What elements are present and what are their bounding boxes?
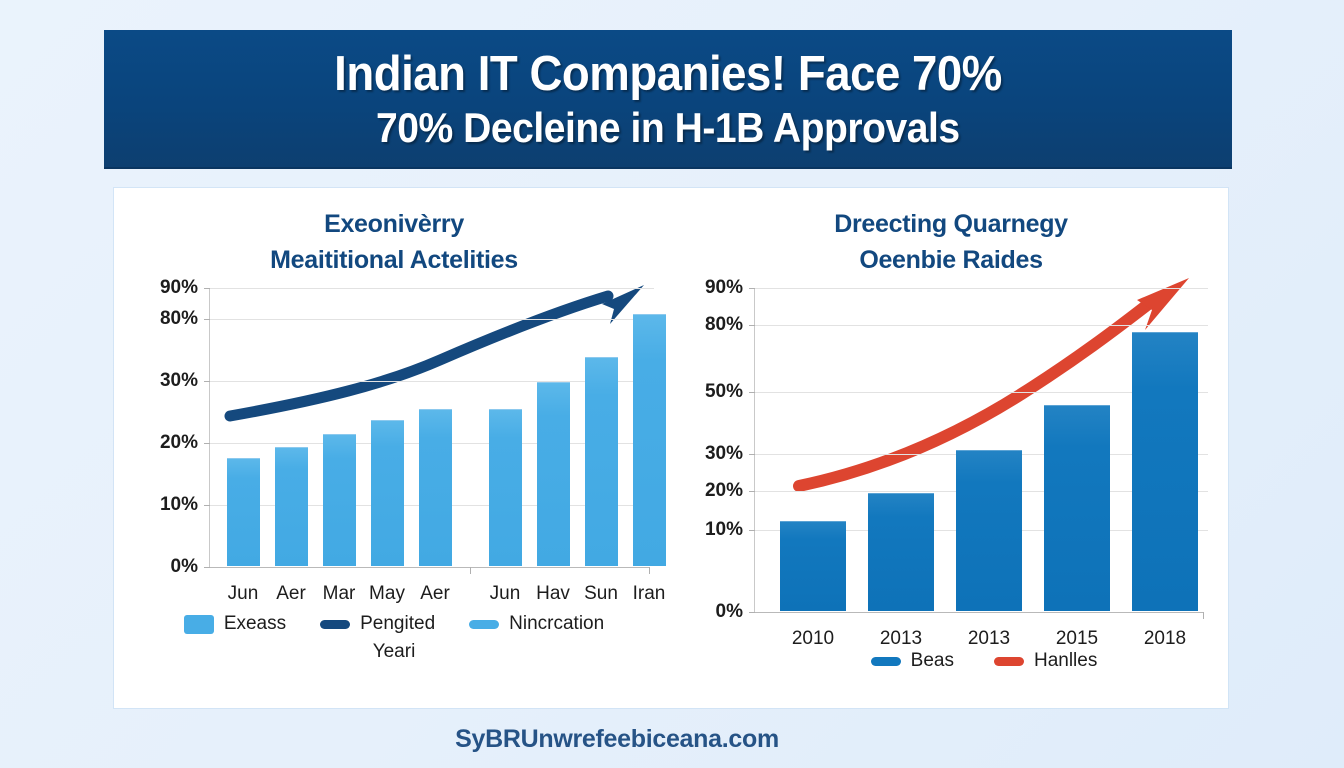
- legend-swatch-line-icon: [320, 620, 350, 629]
- x-axis-label: Iran: [633, 583, 666, 605]
- x-axis-label: 2013: [968, 628, 1010, 650]
- y-tick-mark: [749, 454, 755, 455]
- legend-swatch-line-icon: [469, 620, 499, 629]
- legend-item[interactable]: Beas: [871, 650, 954, 672]
- y-axis-label: 20%: [705, 480, 743, 502]
- bar: [956, 450, 1022, 611]
- x-axis-end-tick: [1203, 612, 1204, 619]
- chart-title-left: Exeonivèrry Meaititional Actelities: [114, 206, 674, 278]
- x-axis-label: Aer: [420, 583, 450, 605]
- gridline: [210, 288, 654, 289]
- gridline: [755, 325, 1208, 326]
- x-axis-label: Jun: [228, 583, 259, 605]
- bar: [227, 458, 260, 567]
- x-axis-label: Jun: [490, 583, 521, 605]
- y-axis-label: 90%: [705, 277, 743, 299]
- x-axis-label: 2018: [1144, 628, 1186, 650]
- y-axis-label: 10%: [705, 519, 743, 541]
- legend-swatch-square-icon: [184, 615, 214, 634]
- bar: [419, 409, 452, 566]
- gridline: [755, 288, 1208, 289]
- bar: [537, 382, 570, 566]
- banner-title-line-2: 70% Decleine in H-1B Approvals: [376, 103, 960, 153]
- x-axis-label: 2013: [880, 628, 922, 650]
- plot-area-left: 90%80%30%20%10%0%JunAerMarMayAerJunHavSu…: [209, 288, 650, 568]
- y-tick-mark: [204, 505, 210, 506]
- x-axis-label: Mar: [323, 583, 356, 605]
- header-banner: Indian IT Companies! Face 70% 70% Declei…: [104, 30, 1232, 169]
- bar: [780, 521, 846, 611]
- legend-label: Pengited: [360, 613, 435, 635]
- charts-card: Exeonivèrry Meaititional Actelities 90%8…: [114, 188, 1228, 708]
- bar: [868, 493, 934, 611]
- legend-item[interactable]: Hanlles: [994, 650, 1097, 672]
- chart-title-right: Dreecting Quarnegy Oeenbie Raides: [674, 206, 1228, 278]
- y-axis-label: 30%: [705, 443, 743, 465]
- y-tick-mark: [749, 288, 755, 289]
- legend-swatch-line-icon: [994, 657, 1024, 666]
- chart-title-left-line-2: Meaititional Actelities: [114, 242, 674, 278]
- legend-left: ExeassPengitedNincrcationYeari: [174, 613, 614, 663]
- x-axis-label: Sun: [584, 583, 618, 605]
- y-tick-mark: [204, 288, 210, 289]
- y-axis-label: 90%: [160, 277, 198, 299]
- bar: [371, 420, 404, 566]
- bar: [275, 447, 308, 566]
- y-tick-mark: [749, 392, 755, 393]
- y-axis-label: 10%: [160, 494, 198, 516]
- legend-item[interactable]: Yeari: [373, 641, 416, 663]
- gridline: [210, 319, 654, 320]
- chart-panel-right: Dreecting Quarnegy Oeenbie Raides 90%80%…: [674, 188, 1228, 708]
- y-tick-mark: [204, 567, 210, 568]
- plot-area-right: 90%80%50%30%20%10%0%20102013201320152018: [754, 288, 1204, 613]
- legend-label: Hanlles: [1034, 650, 1097, 672]
- bar: [585, 357, 618, 566]
- y-tick-mark: [749, 530, 755, 531]
- y-tick-mark: [204, 381, 210, 382]
- legend-swatch-line-icon: [871, 657, 901, 666]
- x-axis-end-tick: [649, 567, 650, 574]
- footer-watermark: SyBRUnwrefeebiceana.com: [0, 725, 1344, 754]
- y-axis-label: 0%: [716, 601, 743, 623]
- x-axis-label: Hav: [536, 583, 570, 605]
- chart-title-right-line-1: Dreecting Quarnegy: [674, 206, 1228, 242]
- bar: [1044, 405, 1110, 611]
- bar: [1132, 332, 1198, 611]
- legend-item[interactable]: Exeass: [184, 613, 286, 635]
- y-tick-mark: [204, 443, 210, 444]
- y-axis-label: 20%: [160, 432, 198, 454]
- x-axis-group-separator: [470, 567, 471, 574]
- legend-label: Yeari: [373, 641, 416, 663]
- y-tick-mark: [749, 325, 755, 326]
- bar: [489, 409, 522, 566]
- y-axis-label: 0%: [171, 556, 198, 578]
- y-axis-label: 80%: [160, 308, 198, 330]
- y-axis-label: 80%: [705, 314, 743, 336]
- chart-panel-left: Exeonivèrry Meaititional Actelities 90%8…: [114, 188, 674, 708]
- legend-item[interactable]: Pengited: [320, 613, 435, 635]
- legend-label: Nincrcation: [509, 613, 604, 635]
- legend-right: BeasHanlles: [794, 650, 1174, 672]
- y-tick-mark: [749, 612, 755, 613]
- y-tick-mark: [749, 491, 755, 492]
- banner-title-line-1: Indian IT Companies! Face 70%: [334, 45, 1002, 103]
- y-tick-mark: [204, 319, 210, 320]
- x-axis-label: 2015: [1056, 628, 1098, 650]
- bar: [633, 314, 666, 566]
- chart-title-right-line-2: Oeenbie Raides: [674, 242, 1228, 278]
- x-axis-label: Aer: [276, 583, 306, 605]
- legend-label: Exeass: [224, 613, 286, 635]
- x-axis-label: 2010: [792, 628, 834, 650]
- y-axis-label: 50%: [705, 381, 743, 403]
- x-axis-label: May: [369, 583, 405, 605]
- chart-title-left-line-1: Exeonivèrry: [114, 206, 674, 242]
- y-axis-label: 30%: [160, 370, 198, 392]
- legend-item[interactable]: Nincrcation: [469, 613, 604, 635]
- bar: [323, 434, 356, 566]
- legend-label: Beas: [911, 650, 954, 672]
